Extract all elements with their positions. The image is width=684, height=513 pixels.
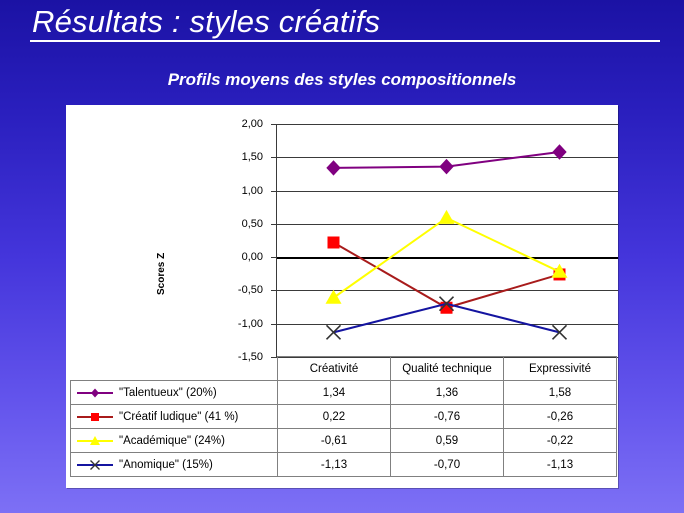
table-corner-cell: [71, 357, 278, 381]
table-cell-value: 1,34: [278, 381, 391, 405]
table-cell-value: -0,61: [278, 429, 391, 453]
column-header-qualite-technique: Qualité technique: [391, 357, 504, 381]
series-group: [326, 210, 568, 304]
legend-swatch-triangle: [75, 434, 115, 448]
table-header-row: Créativité Qualité technique Expressivit…: [71, 357, 617, 381]
plot-region: Scores Z 2,001,501,000,500,00-0,50-1,00-…: [66, 105, 618, 365]
table-cell-value: 0,22: [278, 405, 391, 429]
table-cell-value: 0,59: [391, 429, 504, 453]
table-cell-value: -0,22: [504, 429, 617, 453]
legend-label: "Créatif ludique" (41 %): [119, 411, 238, 423]
chart-subtitle: Profils moyens des styles compositionnel…: [0, 70, 684, 90]
table-cell-value: -1,13: [278, 453, 391, 477]
series-layer: [277, 124, 618, 357]
data-point-marker-diamond: [553, 145, 566, 159]
legend-cell: "Académique" (24%): [71, 429, 278, 453]
series-group: [327, 145, 566, 175]
chart-panel: Scores Z 2,001,501,000,500,00-0,50-1,00-…: [66, 105, 618, 488]
legend-label: "Académique" (24%): [119, 435, 225, 447]
y-axis-tick-label: 0,00: [203, 251, 263, 263]
table-body: "Talentueux" (20%)1,341,361,58"Créatif l…: [71, 381, 617, 477]
legend-cell: "Créatif ludique" (41 %): [71, 405, 278, 429]
data-point-marker-triangle: [439, 210, 455, 224]
data-point-marker-diamond: [440, 160, 453, 174]
series-group: [328, 236, 566, 313]
table-cell-value: -1,13: [504, 453, 617, 477]
title-underline-rule: [30, 40, 660, 42]
legend-label: "Anomique" (15%): [119, 459, 213, 471]
page-title: Résultats : styles créatifs: [32, 2, 672, 44]
column-header-expressivite: Expressivité: [504, 357, 617, 381]
legend-swatch-square: [75, 410, 115, 424]
series-group: [327, 297, 567, 340]
data-table: Créativité Qualité technique Expressivit…: [70, 356, 617, 477]
data-point-marker-cross: [553, 325, 567, 339]
y-axis-title: Scores Z: [156, 253, 167, 295]
column-header-creativite: Créativité: [278, 357, 391, 381]
y-axis-tick-label: 0,50: [203, 218, 263, 230]
y-axis-tick-label: 2,00: [203, 118, 263, 130]
y-axis-tick-label: 1,00: [203, 185, 263, 197]
legend-swatch-diamond: [75, 386, 115, 400]
legend-swatch-cross: [75, 458, 115, 472]
legend-cell: "Anomique" (15%): [71, 453, 278, 477]
data-point-marker-triangle: [326, 290, 342, 304]
legend-label: "Talentueux" (20%): [119, 387, 217, 399]
table-cell-value: 1,58: [504, 381, 617, 405]
table-cell-value: -0,26: [504, 405, 617, 429]
table-cell-value: -0,76: [391, 405, 504, 429]
y-axis-tick-label: 1,50: [203, 151, 263, 163]
y-axis-tick-label: -1,00: [203, 318, 263, 330]
table-row: "Talentueux" (20%)1,341,361,58: [71, 381, 617, 405]
legend-cell: "Talentueux" (20%): [71, 381, 278, 405]
table-row: "Créatif ludique" (41 %)0,22-0,76-0,26: [71, 405, 617, 429]
data-point-marker-diamond: [327, 161, 340, 175]
series-line: [334, 242, 560, 307]
data-table-wrapper: Créativité Qualité technique Expressivit…: [70, 356, 616, 477]
plot-area: [277, 124, 618, 357]
data-point-marker-cross: [327, 325, 341, 339]
table-cell-value: -0,70: [391, 453, 504, 477]
table-row: "Anomique" (15%)-1,13-0,70-1,13: [71, 453, 617, 477]
table-row: "Académique" (24%)-0,610,59-0,22: [71, 429, 617, 453]
data-point-marker-square: [328, 236, 340, 248]
table-cell-value: 1,36: [391, 381, 504, 405]
series-line: [334, 218, 560, 298]
y-axis-tick-label: -0,50: [203, 284, 263, 296]
